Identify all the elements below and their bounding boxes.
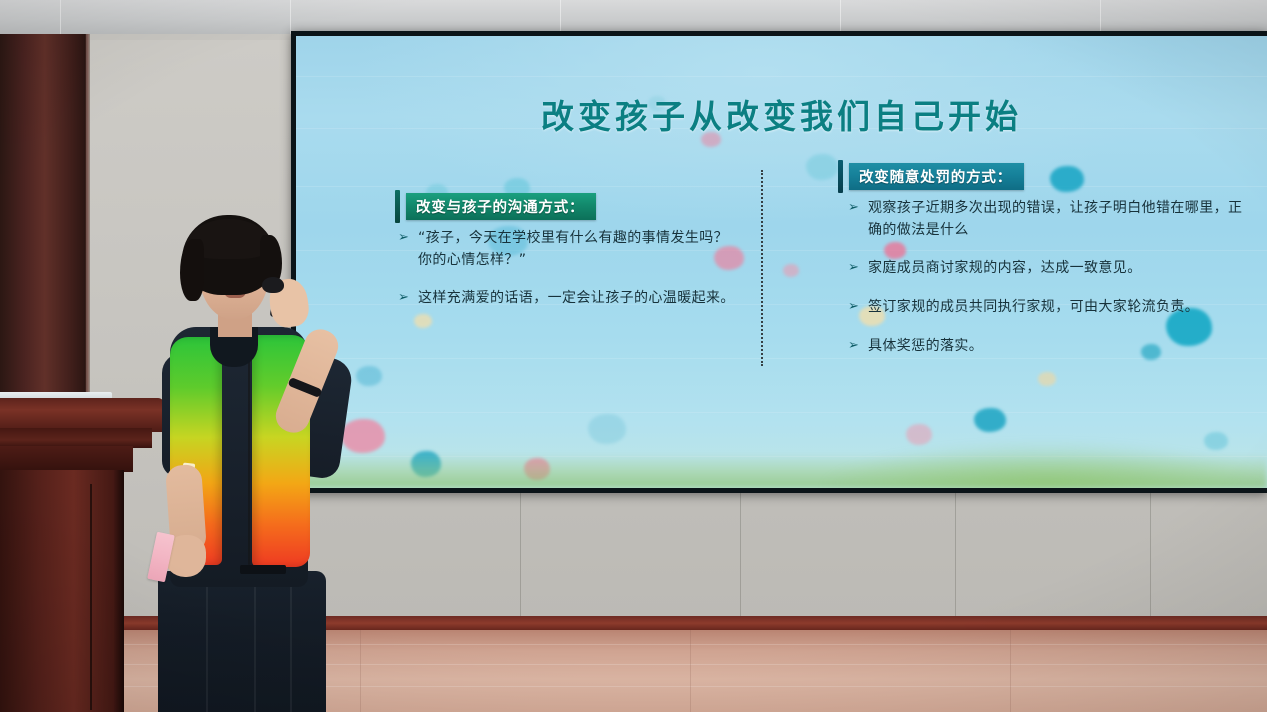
- projection-screen: 改变孩子从改变我们自己开始 改变与孩子的沟通方式： ➢ “孩子，今天在学校里有什…: [296, 36, 1267, 488]
- podium-lip: [0, 428, 152, 448]
- presenter-belt: [240, 565, 286, 574]
- bullet-arrow-icon: ➢: [848, 297, 868, 319]
- bullet-arrow-icon: ➢: [848, 258, 868, 280]
- list-item: ➢ 这样充满爱的话语，一定会让孩子的心温暖起来。: [398, 288, 738, 310]
- lecture-scene-photo: 改变孩子从改变我们自己开始 改变与孩子的沟通方式： ➢ “孩子，今天在学校里有什…: [0, 0, 1267, 712]
- bullet-arrow-icon: ➢: [398, 288, 418, 310]
- podium-body: [0, 470, 124, 712]
- left-column-bullets: ➢ “孩子，今天在学校里有什么有趣的事情发生吗？你的心情怎样？” ➢ 这样充满爱…: [398, 228, 738, 327]
- list-item: ➢ 家庭成员商讨家规的内容，达成一致意见。: [848, 258, 1246, 280]
- list-item-text: 具体奖惩的落实。: [868, 336, 1246, 358]
- bullet-arrow-icon: ➢: [848, 198, 868, 241]
- podium-panel-line: [90, 484, 92, 710]
- left-header-accent-bar: [395, 190, 400, 223]
- right-column-header: 改变随意处罚的方式：: [838, 163, 1024, 190]
- list-item: ➢ “孩子，今天在学校里有什么有趣的事情发生吗？你的心情怎样？”: [398, 228, 738, 271]
- presenter: [140, 215, 365, 712]
- left-column-header: 改变与孩子的沟通方式：: [395, 193, 596, 220]
- right-header-accent-bar: [838, 160, 843, 193]
- slide-divider: [761, 170, 763, 366]
- podium-neck: [0, 446, 133, 472]
- presenter-skirt: [158, 571, 326, 712]
- list-item: ➢ 签订家规的成员共同执行家规，可由大家轮流负责。: [848, 297, 1246, 319]
- list-item: ➢ 具体奖惩的落实。: [848, 336, 1246, 358]
- right-column-bullets: ➢ 观察孩子近期多次出现的错误，让孩子明白他错在哪里，正确的做法是什么 ➢ 家庭…: [848, 198, 1246, 374]
- watercolor-blot: [974, 408, 1006, 432]
- watercolor-blot: [783, 264, 799, 277]
- list-item-text: “孩子，今天在学校里有什么有趣的事情发生吗？你的心情怎样？”: [418, 228, 738, 271]
- watercolor-grass-patch: [816, 440, 1267, 488]
- list-item: ➢ 观察孩子近期多次出现的错误，让孩子明白他错在哪里，正确的做法是什么: [848, 198, 1246, 241]
- presenter-hair-side-left: [180, 239, 204, 301]
- list-item-text: 这样充满爱的话语，一定会让孩子的心温暖起来。: [418, 288, 738, 310]
- watercolor-blot: [588, 414, 626, 444]
- slide-title: 改变孩子从改变我们自己开始: [296, 90, 1267, 138]
- bullet-arrow-icon: ➢: [398, 228, 418, 271]
- list-item-text: 家庭成员商讨家规的内容，达成一致意见。: [868, 258, 1246, 280]
- right-header-label: 改变随意处罚的方式：: [849, 163, 1024, 190]
- watercolor-blot: [806, 154, 838, 180]
- microphone-icon: [262, 277, 284, 293]
- watercolor-blot: [1050, 166, 1084, 192]
- list-item-text: 观察孩子近期多次出现的错误，让孩子明白他错在哪里，正确的做法是什么: [868, 198, 1246, 241]
- bullet-arrow-icon: ➢: [848, 336, 868, 358]
- list-item-text: 签订家规的成员共同执行家规，可由大家轮流负责。: [868, 297, 1246, 319]
- presenter-vest-zipper: [248, 339, 250, 565]
- left-header-label: 改变与孩子的沟通方式：: [406, 193, 596, 220]
